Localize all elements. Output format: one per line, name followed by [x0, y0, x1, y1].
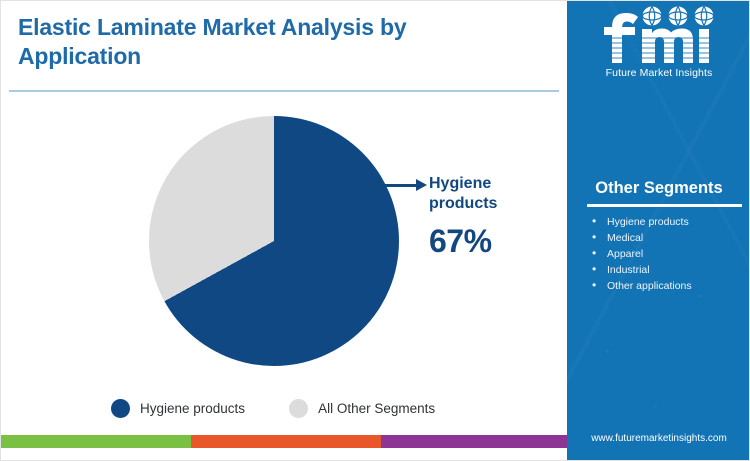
callout-arrow-line: [361, 184, 419, 187]
other-segments-list: Hygiene productsMedicalApparelIndustrial…: [589, 214, 749, 294]
segment-list-item: Hygiene products: [589, 214, 749, 230]
legend-label: All Other Segments: [318, 401, 435, 416]
fmi-logo[interactable]: Future Market Insights: [567, 5, 750, 89]
callout-label-line1: Hygiene: [429, 175, 491, 192]
page-title: Elastic Laminate Market Analysis by Appl…: [18, 13, 448, 72]
segment-list-item: Medical: [589, 230, 749, 246]
chart-legend: Hygiene products All Other Segments: [111, 399, 435, 418]
segment-list-item: Industrial: [589, 262, 749, 278]
heading-underline: [587, 204, 742, 207]
callout-label-line2: products: [429, 195, 497, 212]
legend-color-swatch: [289, 399, 308, 418]
callout-label: Hygiene products: [429, 174, 549, 214]
brand-panel: Future Market Insights Other Segments Hy…: [567, 1, 750, 461]
legend-color-swatch: [111, 399, 130, 418]
legend-item[interactable]: Hygiene products: [111, 399, 245, 418]
pie-disc: [149, 116, 399, 366]
accent-segment-orange: [191, 435, 381, 448]
accent-segment-purple: [381, 435, 567, 448]
pie-chart: [149, 116, 399, 366]
chart-area: Elastic Laminate Market Analysis by Appl…: [1, 1, 567, 448]
title-divider: [9, 90, 559, 92]
legend-item[interactable]: All Other Segments: [289, 399, 435, 418]
callout-value: 67%: [429, 223, 492, 260]
accent-segment-green: [1, 435, 191, 448]
other-segments-heading: Other Segments: [567, 179, 750, 198]
website-url[interactable]: www.futuremarketinsights.com: [567, 433, 750, 444]
logo-tagline: Future Market Insights: [567, 67, 750, 79]
infographic-root: Elastic Laminate Market Analysis by Appl…: [0, 0, 750, 461]
legend-label: Hygiene products: [140, 401, 245, 416]
right-arrow-icon: [416, 179, 427, 191]
fmi-logo-mark: [594, 5, 724, 67]
segment-list-item: Other applications: [589, 278, 749, 294]
accent-bar: [1, 435, 567, 448]
segment-list-item: Apparel: [589, 246, 749, 262]
